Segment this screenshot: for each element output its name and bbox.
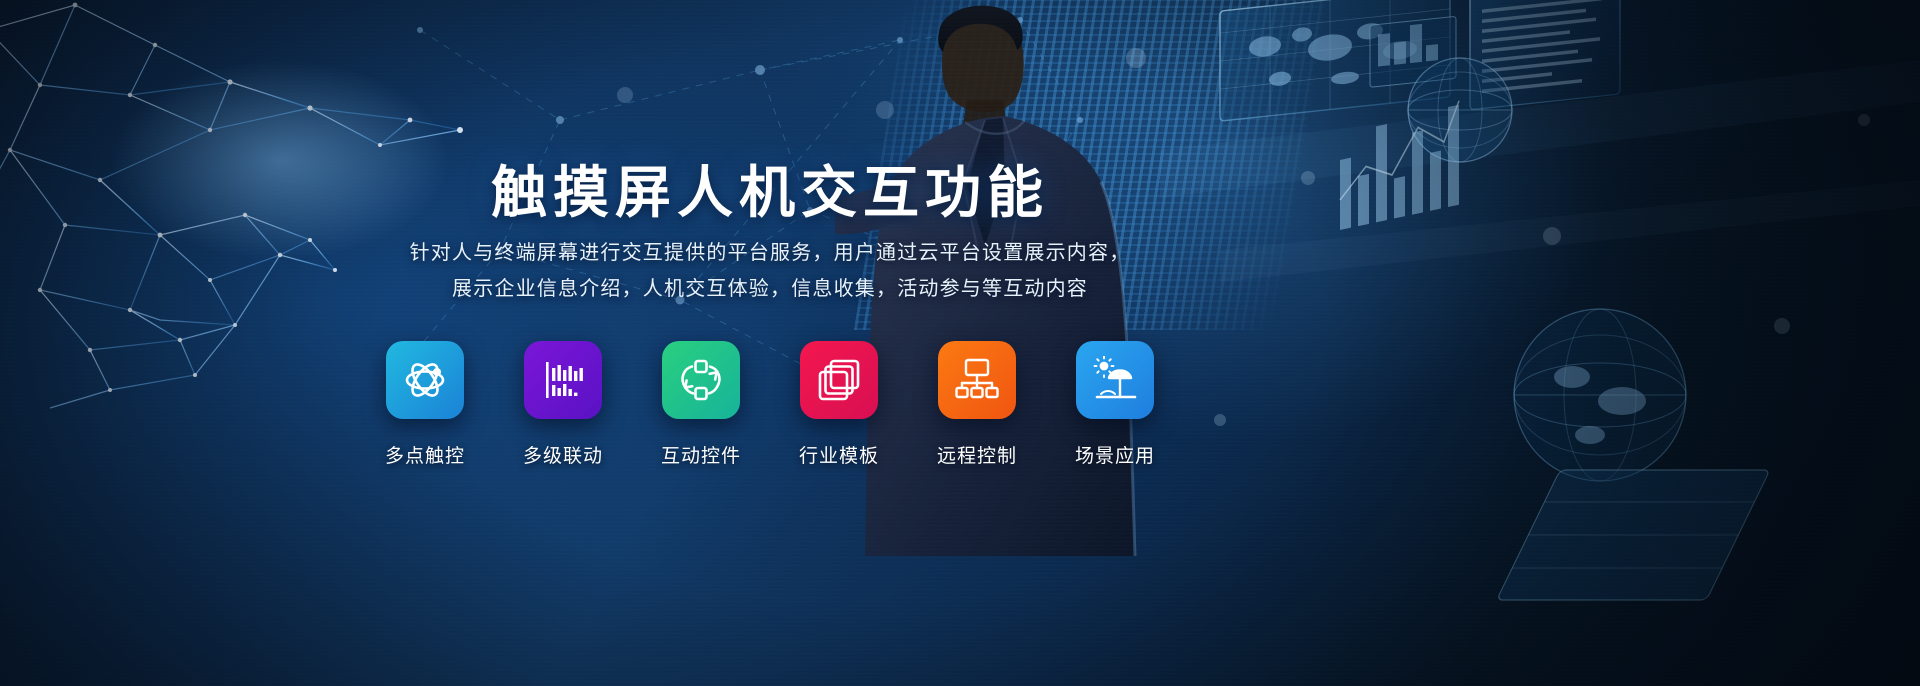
- feature-label: 场景应用: [1075, 441, 1155, 468]
- layers-icon: [815, 356, 863, 404]
- banner-content: 触摸屏人机交互功能 针对人与终端屏幕进行交互提供的平台服务，用户通过云平台设置展…: [0, 0, 1920, 686]
- remote-monitor-icon: [953, 356, 1001, 404]
- atom-icon: [401, 356, 449, 404]
- feature-tile-multi-level-linkage[interactable]: 多级联动: [524, 341, 602, 468]
- multi-touch-tile-icon[interactable]: [386, 341, 464, 419]
- feature-tile-industry-template[interactable]: 行业模板: [800, 341, 878, 468]
- remote-control-tile-icon[interactable]: [938, 341, 1016, 419]
- feature-label: 多级联动: [523, 441, 603, 468]
- sync-control-icon: [677, 356, 725, 404]
- bar-chart-icon: [539, 356, 587, 404]
- feature-tile-interactive-widget[interactable]: 互动控件: [662, 341, 740, 468]
- interactive-widget-tile-icon[interactable]: [662, 341, 740, 419]
- feature-tile-list: 多点触控: [0, 341, 1540, 468]
- feature-label: 远程控制: [937, 441, 1017, 468]
- feature-label: 多点触控: [385, 441, 465, 468]
- scene-application-tile-icon[interactable]: [1076, 341, 1154, 419]
- industry-template-tile-icon[interactable]: [800, 341, 878, 419]
- banner-title: 触摸屏人机交互功能: [0, 148, 1540, 229]
- feature-tile-scene-application[interactable]: 场景应用: [1076, 341, 1154, 468]
- feature-tile-remote-control[interactable]: 远程控制: [938, 341, 1016, 468]
- multi-level-linkage-tile-icon[interactable]: [524, 341, 602, 419]
- hero-banner: 触摸屏人机交互功能 针对人与终端屏幕进行交互提供的平台服务，用户通过云平台设置展…: [0, 0, 1920, 686]
- banner-subtitle-line-2: 展示企业信息介绍，人机交互体验，信息收集，活动参与等互动内容: [0, 272, 1540, 301]
- feature-label: 互动控件: [661, 441, 741, 468]
- beach-scene-icon: [1091, 356, 1139, 404]
- banner-subtitle-line-1: 针对人与终端屏幕进行交互提供的平台服务，用户通过云平台设置展示内容，: [0, 236, 1540, 265]
- feature-tile-multi-touch[interactable]: 多点触控: [386, 341, 464, 468]
- feature-label: 行业模板: [799, 441, 879, 468]
